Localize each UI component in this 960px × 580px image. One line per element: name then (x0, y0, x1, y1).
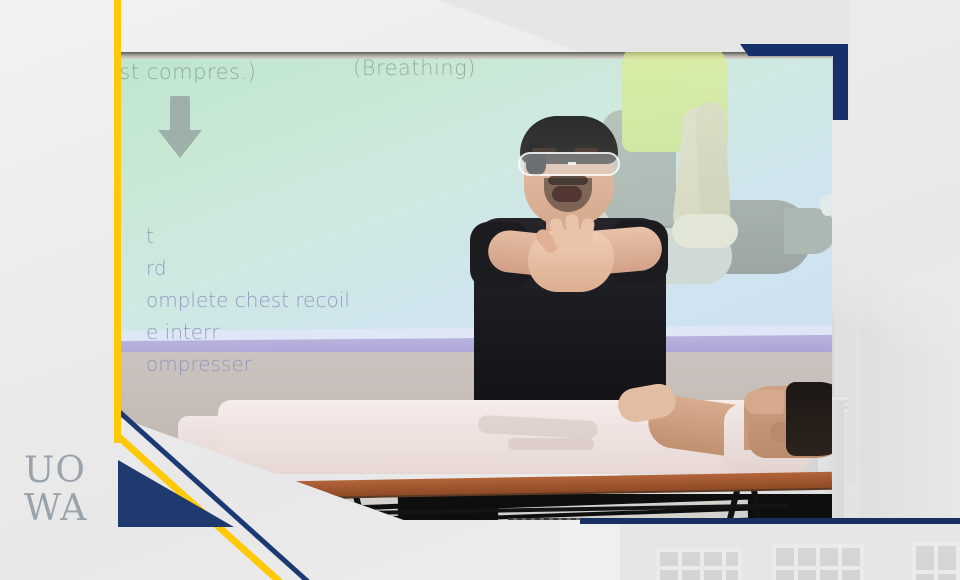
uowa-logo[interactable]: UO WA (24, 452, 114, 532)
list-item: rd (146, 252, 350, 284)
navy-horizontal-rule (580, 518, 960, 524)
uowa-logo-line2: WA (24, 490, 114, 528)
yellow-accent-line (114, 0, 121, 443)
patient-cloth-fold (508, 438, 594, 450)
list-item: e interr (146, 316, 350, 348)
uowa-logo-line1: UO (24, 452, 114, 490)
list-item: t (146, 220, 350, 252)
poster-canvas: est compres.) (Breathing) t rd omplete c… (0, 0, 960, 580)
patient-hair (786, 382, 832, 456)
slide-heading-right: (Breathing) (353, 56, 476, 80)
slide-heading-left: est compres.) (118, 60, 256, 84)
slide-bullet-list: t rd omplete chest recoil e interr ompre… (118, 220, 350, 380)
instructor-figure (448, 114, 698, 404)
safety-glasses-icon (518, 152, 620, 176)
down-arrow-icon-head (158, 130, 202, 158)
patient-chin (744, 390, 784, 414)
list-item: ompresser (146, 348, 350, 380)
cpr-training-photo: est compres.) (Breathing) t rd omplete c… (118, 52, 832, 520)
list-item: omplete chest recoil (146, 284, 350, 316)
